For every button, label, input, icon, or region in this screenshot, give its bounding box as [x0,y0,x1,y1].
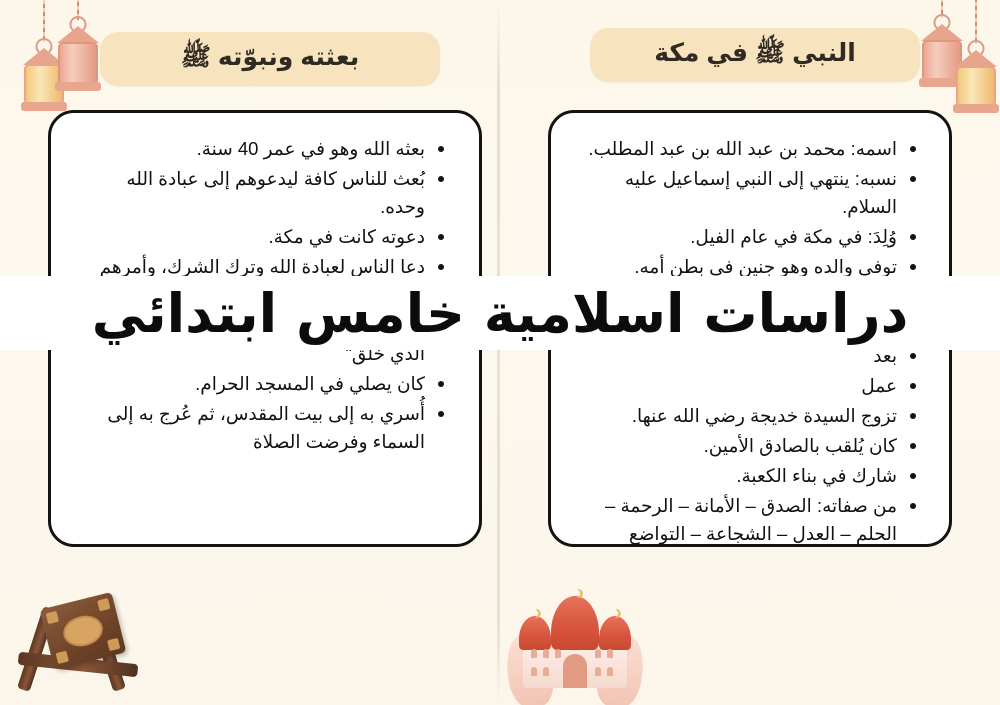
list-item: بعثه الله وهو في عمر 40 سنة. [77,135,447,163]
mosque-in-hands-icon [505,596,645,702]
lantern-icon [50,0,106,98]
list-item: كان يصلي في المسجد الحرام. [77,370,447,398]
lantern-icon [948,0,1000,116]
list-item: أُسري به إلى بيت المقدس، ثم عُرج به إلى … [77,400,447,456]
list-item: اسمه: محمد بن عبد الله بن عبد المطلب. [577,135,919,163]
overlay-title-band: دراسات اسلامية خامس ابتدائي [0,276,1000,350]
heading-text: بعثته ونبوّته ﷺ [181,41,360,78]
list-item: من صفاته: الصدق – الأمانة – الرحمة – الح… [577,492,919,548]
list-item: بُعث للناس كافة ليدعوهم إلى عبادة الله و… [77,165,447,221]
heading-text: النبي ﷺ في مكة [654,37,856,74]
heading-prophet-in-makkah: النبي ﷺ في مكة [590,28,920,82]
list-item: نسبه: ينتهي إلى النبي إسماعيل عليه السلا… [577,165,919,221]
list-item: كان يُلقب بالصادق الأمين. [577,432,919,460]
list-item: شارك في بناء الكعبة. [577,462,919,490]
list-item: عمل [577,372,919,400]
list-item: وُلِدَ: في مكة في عام الفيل. [577,223,919,251]
quran-on-rehal-icon [14,592,154,696]
column-divider [497,0,500,705]
infographic-page: النبي ﷺ في مكة بعثته ونبوّته ﷺ اسمه: محم… [0,0,1000,705]
list-item: تزوج السيدة خديجة رضي الله عنها. [577,402,919,430]
page-title: دراسات اسلامية خامس ابتدائي [92,282,909,345]
heading-mission-and-prophethood: بعثته ونبوّته ﷺ [100,32,440,86]
list-item: دعوته كانت في مكة. [77,223,447,251]
